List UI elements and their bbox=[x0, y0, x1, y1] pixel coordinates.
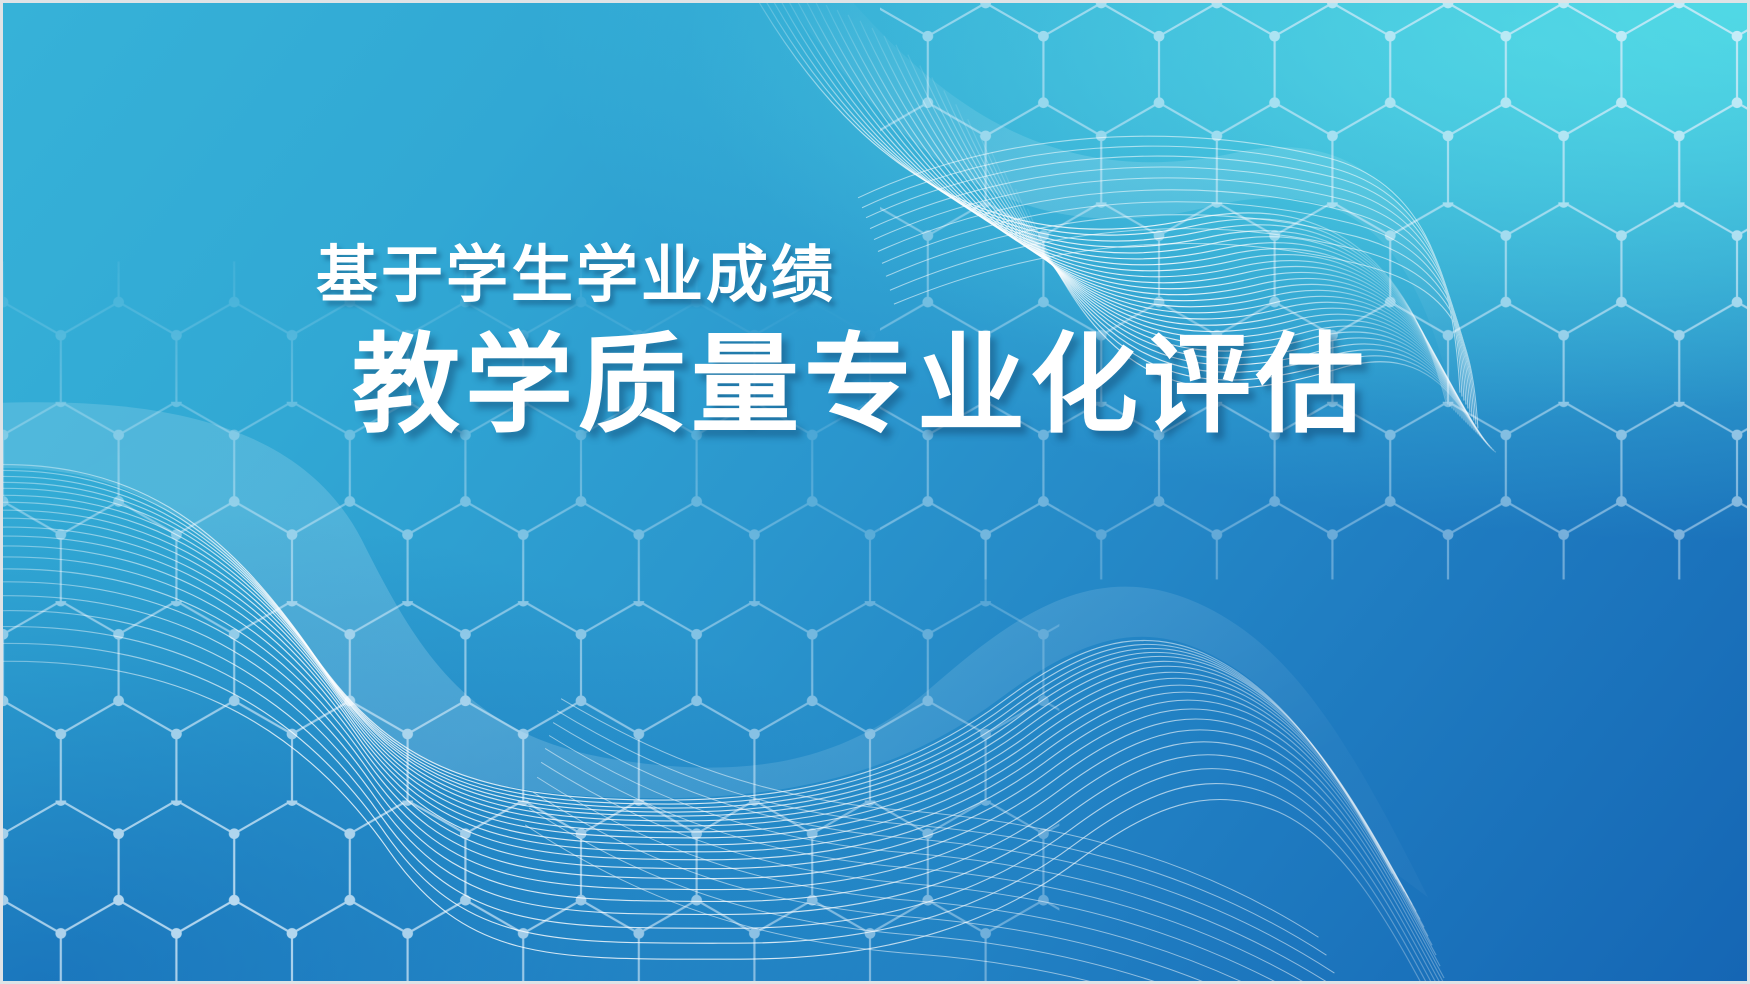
flowing-wave-ribbon-bottom bbox=[3, 3, 1747, 981]
title-text-block: 基于学生学业成绩 教学质量专业化评估 bbox=[316, 241, 1369, 445]
slide-title: 教学质量专业化评估 bbox=[352, 326, 1369, 445]
slide-subtitle: 基于学生学业成绩 bbox=[316, 241, 1369, 310]
title-slide: 基于学生学业成绩 教学质量专业化评估 bbox=[0, 0, 1750, 984]
